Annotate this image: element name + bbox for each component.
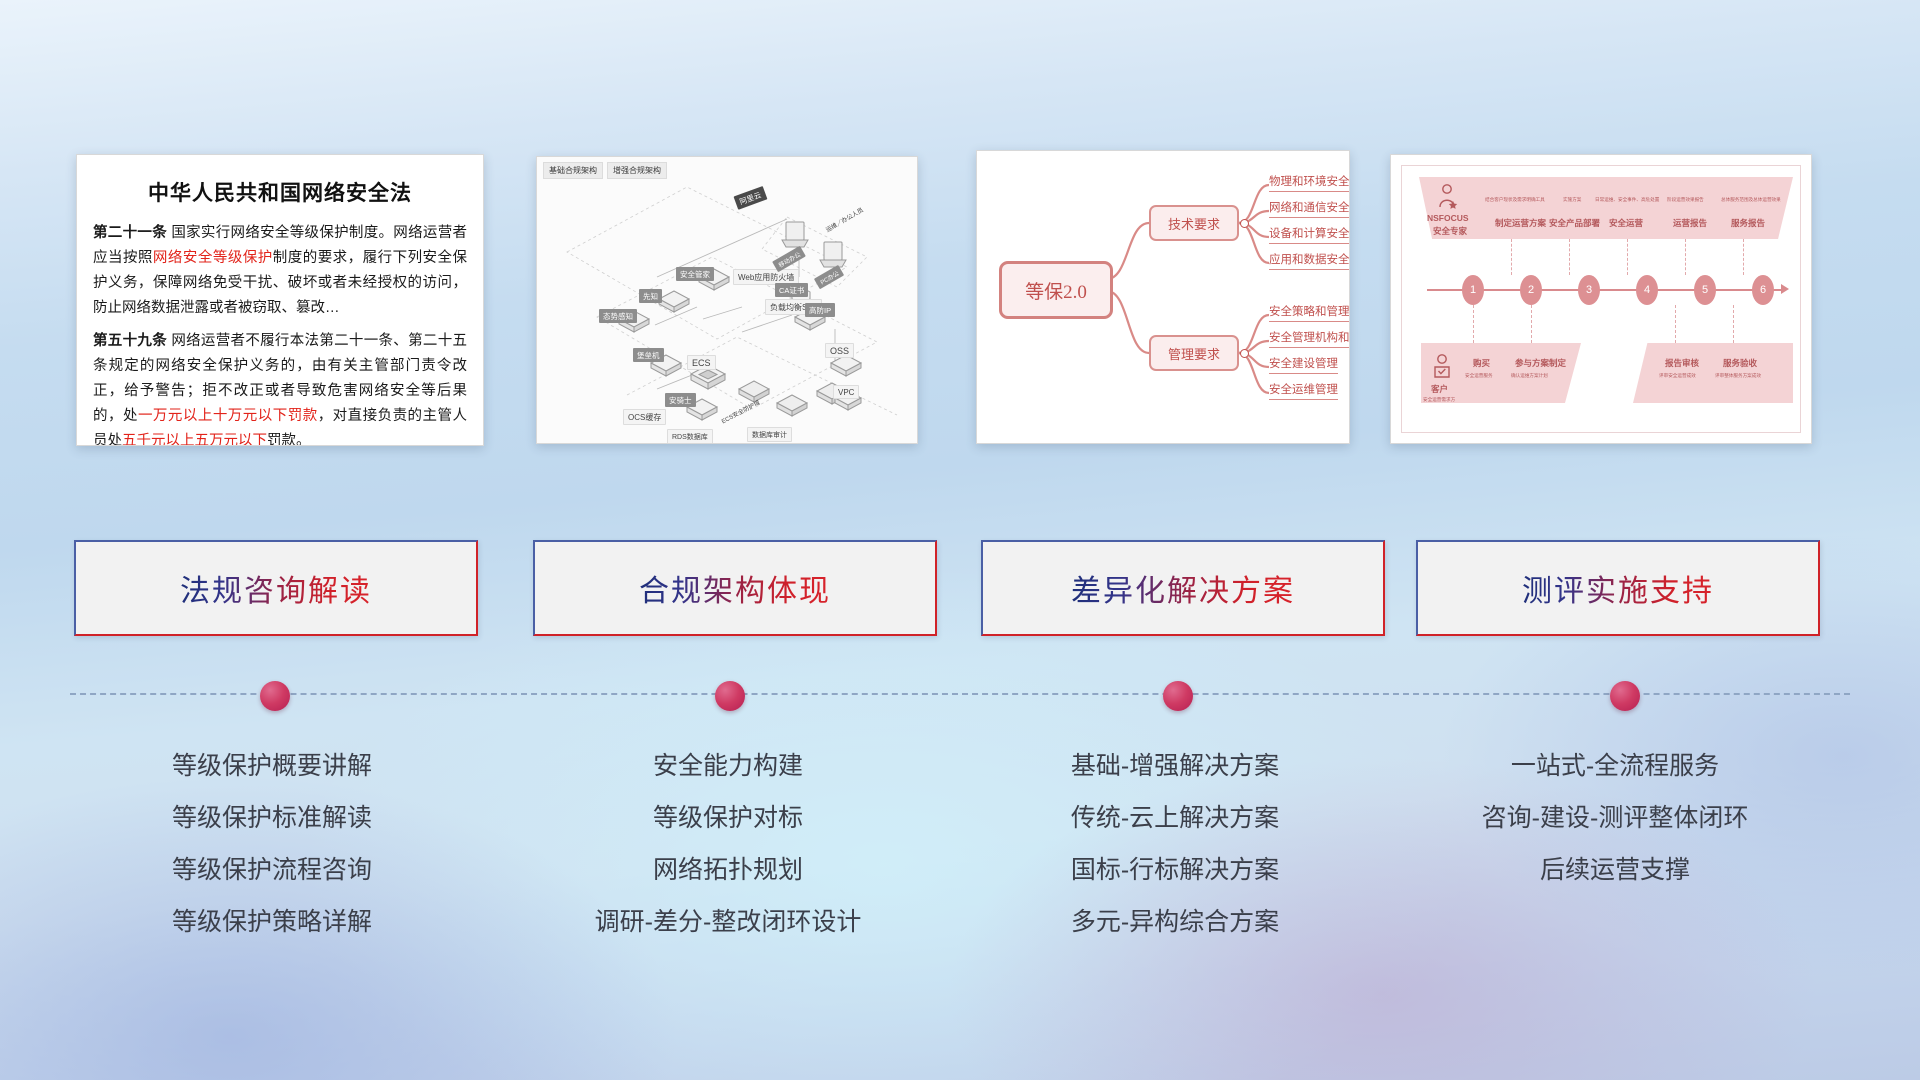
card-mindmap-dengbao[interactable]: 等保2.0 技术要求 管理要求 物理和环境安全 网络和通信安全 设备和计算安全 … bbox=[976, 150, 1350, 444]
detail-columns: 等级保护概要讲解 等级保护标准解读 等级保护流程咨询 等级保护策略详解 安全能力… bbox=[0, 740, 1920, 1000]
timeline-node-1[interactable] bbox=[260, 681, 290, 711]
label-ecs: ECS bbox=[687, 355, 716, 370]
label-db-audit: 数据库审计 bbox=[747, 427, 792, 442]
architecture-tabs[interactable]: 基础合规架构 增强合规架构 bbox=[543, 162, 667, 179]
label-ca-cert: CA证书 bbox=[775, 283, 808, 297]
law-document: 中华人民共和国网络安全法 第二十一条 国家实行网络安全等级保护制度。网络运营者应… bbox=[77, 155, 483, 445]
detail-column-1: 等级保护概要讲解 等级保护标准解读 等级保护流程咨询 等级保护策略详解 bbox=[52, 740, 492, 948]
top-step-5-sub: 总体服务范围及总体运营效果 bbox=[1721, 197, 1781, 203]
bottom-right-band bbox=[1633, 343, 1793, 403]
top-step-2-title: 安全产品部署 bbox=[1549, 217, 1600, 229]
bottom-step-1-sub: 安全运营服务 bbox=[1465, 373, 1493, 379]
list-item: 安全能力构建 bbox=[508, 740, 948, 792]
list-item: 传统-云上解决方案 bbox=[955, 792, 1395, 844]
list-item: 网络拓扑规划 bbox=[508, 844, 948, 896]
label-oss: OSS bbox=[825, 343, 854, 358]
heading-label: 法规咨询解读 bbox=[180, 566, 372, 610]
top-band bbox=[1419, 177, 1793, 239]
top-step-3-title: 安全运营 bbox=[1609, 217, 1643, 229]
mindmap-leaf-policy[interactable]: 安全策略和管理制度 bbox=[1269, 303, 1350, 322]
step-number-5[interactable]: 5 bbox=[1694, 275, 1716, 305]
heading-row: 法规咨询解读 合规架构体现 差异化解决方案 测评实施支持 bbox=[0, 540, 1920, 650]
mindmap-branch-management[interactable]: 管理要求 bbox=[1149, 335, 1239, 371]
connector-dash bbox=[1473, 305, 1474, 343]
article-21-highlight: 网络安全等级保护 bbox=[153, 250, 273, 266]
label-vpc: VPC bbox=[833, 385, 859, 399]
label-baoleiji: 堡垒机 bbox=[633, 348, 664, 362]
step-number-2[interactable]: 2 bbox=[1520, 275, 1542, 305]
card-cloud-architecture[interactable]: 基础合规架构 增强合规架构 bbox=[536, 156, 918, 444]
step-number-1[interactable]: 1 bbox=[1462, 275, 1484, 305]
connector-dash bbox=[1733, 305, 1734, 343]
top-step-1-sub: 结合客户现状及需求明确工具 bbox=[1485, 197, 1545, 203]
top-step-1-title: 制定运营方案 bbox=[1495, 217, 1546, 229]
list-item: 基础-增强解决方案 bbox=[955, 740, 1395, 792]
list-item: 多元-异构综合方案 bbox=[955, 896, 1395, 948]
expert-person-icon bbox=[1437, 183, 1459, 216]
step-number-6[interactable]: 6 bbox=[1752, 275, 1774, 305]
list-item: 等级保护概要讲解 bbox=[52, 740, 492, 792]
bottom-step-1-title: 购买 bbox=[1473, 357, 1490, 369]
mindmap-branch-technical[interactable]: 技术要求 bbox=[1149, 205, 1239, 241]
mindmap: 等保2.0 技术要求 管理要求 物理和环境安全 网络和通信安全 设备和计算安全 … bbox=[977, 151, 1349, 443]
expand-dot-icon[interactable] bbox=[1240, 349, 1249, 358]
bottom-step-2-title: 参与方案制定 bbox=[1515, 357, 1566, 369]
list-item: 国标-行标解决方案 bbox=[955, 844, 1395, 896]
article-59-text-c: 罚款。 bbox=[267, 433, 311, 447]
law-article-59: 第五十九条 网络运营者不履行本法第二十一条、第二十五条规定的网络安全保护义务的，… bbox=[93, 329, 467, 446]
process-timeline bbox=[70, 693, 1850, 711]
mindmap-leaf-org[interactable]: 安全管理机构和人员 bbox=[1269, 329, 1350, 348]
heading-box-compliance-architecture[interactable]: 合规架构体现 bbox=[533, 540, 937, 636]
list-item: 等级保护策略详解 bbox=[52, 896, 492, 948]
article-59-label: 第五十九条 bbox=[93, 333, 167, 349]
customer-person-icon bbox=[1431, 353, 1453, 386]
mindmap-leaf-network[interactable]: 网络和通信安全 bbox=[1269, 199, 1350, 218]
nsfocus-process-diagram: NSFOCUS 安全专家 结合客户现状及需求明确工具 制定运营方案 实施方案 安… bbox=[1391, 155, 1811, 443]
heading-label: 差异化解决方案 bbox=[1071, 566, 1295, 610]
label-taishiganzhi: 态势感知 bbox=[599, 309, 637, 323]
detail-column-3: 基础-增强解决方案 传统-云上解决方案 国标-行标解决方案 多元-异构综合方案 bbox=[955, 740, 1395, 948]
list-item: 一站式-全流程服务 bbox=[1395, 740, 1835, 792]
mindmap-root-node[interactable]: 等保2.0 bbox=[999, 261, 1113, 319]
top-step-2-sub: 实施方案 bbox=[1563, 197, 1581, 203]
label-anqishi: 安骑士 bbox=[665, 393, 696, 407]
mindmap-leaf-ops[interactable]: 安全运维管理 bbox=[1269, 381, 1338, 400]
bottom-step-4-sub: 评审整体服务方案成效 bbox=[1715, 373, 1761, 379]
list-item: 等级保护对标 bbox=[508, 792, 948, 844]
label-xianzhi: 先知 bbox=[639, 289, 662, 303]
mindmap-leaf-device[interactable]: 设备和计算安全 bbox=[1269, 225, 1350, 244]
bottom-step-4-title: 服务验收 bbox=[1723, 357, 1757, 369]
connector-dash bbox=[1569, 239, 1570, 275]
top-step-4-sub: 阶段运营效果报告 bbox=[1667, 197, 1704, 203]
list-item: 后续运营支撑 bbox=[1395, 844, 1835, 896]
timeline-node-2[interactable] bbox=[715, 681, 745, 711]
card-cybersecurity-law[interactable]: 中华人民共和国网络安全法 第二十一条 国家实行网络安全等级保护制度。网络运营者应… bbox=[76, 154, 484, 446]
list-item: 等级保护标准解读 bbox=[52, 792, 492, 844]
step-number-4[interactable]: 4 bbox=[1636, 275, 1658, 305]
list-item: 等级保护流程咨询 bbox=[52, 844, 492, 896]
mindmap-leaf-application[interactable]: 应用和数据安全 bbox=[1269, 251, 1350, 270]
mindmap-leaf-physical[interactable]: 物理和环境安全 bbox=[1269, 173, 1350, 192]
heading-box-regulation-consulting[interactable]: 法规咨询解读 bbox=[74, 540, 478, 636]
bottom-step-3-sub: 评审安全运营成效 bbox=[1659, 373, 1696, 379]
top-step-3-sub: 日常运维、安全事件、高危处置 bbox=[1595, 197, 1659, 203]
bottom-step-3-title: 报告审核 bbox=[1665, 357, 1699, 369]
connector-dash bbox=[1511, 239, 1512, 275]
connector-dash bbox=[1627, 239, 1628, 275]
screenshot-cards-row: 中华人民共和国网络安全法 第二十一条 国家实行网络安全等级保护制度。网络运营者应… bbox=[0, 0, 1920, 460]
architecture-diagram: 基础合规架构 增强合规架构 bbox=[537, 157, 917, 443]
label-gaofang-ip: 高防IP bbox=[805, 303, 835, 317]
article-59-highlight-b: 五千元以上五万元以下 bbox=[122, 433, 267, 447]
list-item: 调研-差分-整改闭环设计 bbox=[508, 896, 948, 948]
bottom-step-2-sub: 确认运维方案计划 bbox=[1511, 373, 1548, 379]
label-ocs-cache: OCS缓存 bbox=[623, 409, 666, 425]
tab-basic-architecture[interactable]: 基础合规架构 bbox=[543, 162, 603, 179]
heading-label: 测评实施支持 bbox=[1522, 566, 1714, 610]
detail-column-2: 安全能力构建 等级保护对标 网络拓扑规划 调研-差分-整改闭环设计 bbox=[508, 740, 948, 948]
article-21-label: 第二十一条 bbox=[93, 225, 167, 241]
heading-box-differentiated-solution[interactable]: 差异化解决方案 bbox=[981, 540, 1385, 636]
heading-label: 合规架构体现 bbox=[639, 566, 831, 610]
detail-column-4: 一站式-全流程服务 咨询-建设-测评整体闭环 后续运营支撑 bbox=[1395, 740, 1835, 896]
connector-dash bbox=[1685, 239, 1686, 275]
timeline-node-3[interactable] bbox=[1163, 681, 1193, 711]
top-step-5-title: 服务报告 bbox=[1731, 217, 1765, 229]
card-nsfocus-timeline[interactable]: NSFOCUS 安全专家 结合客户现状及需求明确工具 制定运营方案 实施方案 安… bbox=[1390, 154, 1812, 444]
tab-enhanced-architecture[interactable]: 增强合规架构 bbox=[607, 162, 667, 179]
article-59-highlight-a: 一万元以上十万元以下罚款 bbox=[138, 408, 318, 424]
heading-box-assessment-support[interactable]: 测评实施支持 bbox=[1416, 540, 1820, 636]
list-item: 咨询-建设-测评整体闭环 bbox=[1395, 792, 1835, 844]
label-anquanguanjia: 安全管家 bbox=[676, 267, 714, 281]
connector-dash bbox=[1675, 305, 1676, 343]
connector-dash bbox=[1531, 305, 1532, 343]
law-article-21: 第二十一条 国家实行网络安全等级保护制度。网络运营者应当按照网络安全等级保护制度… bbox=[93, 221, 467, 321]
connector-dash bbox=[1743, 239, 1744, 275]
server-cube-icon bbox=[657, 289, 691, 320]
step-number-3[interactable]: 3 bbox=[1578, 275, 1600, 305]
mindmap-leaf-construction[interactable]: 安全建设管理 bbox=[1269, 355, 1338, 374]
law-title: 中华人民共和国网络安全法 bbox=[93, 177, 467, 207]
server-cube-icon bbox=[775, 393, 809, 424]
timeline-node-4[interactable] bbox=[1610, 681, 1640, 711]
customer-sub: 安全运营需求方 bbox=[1423, 397, 1455, 403]
top-step-4-title: 运营报告 bbox=[1673, 217, 1707, 229]
timeline-arrow-icon bbox=[1781, 284, 1789, 294]
label-rds-db: RDS数据库 bbox=[667, 429, 713, 444]
brand-subtitle: 安全专家 bbox=[1433, 225, 1467, 237]
expand-dot-icon[interactable] bbox=[1240, 219, 1249, 228]
